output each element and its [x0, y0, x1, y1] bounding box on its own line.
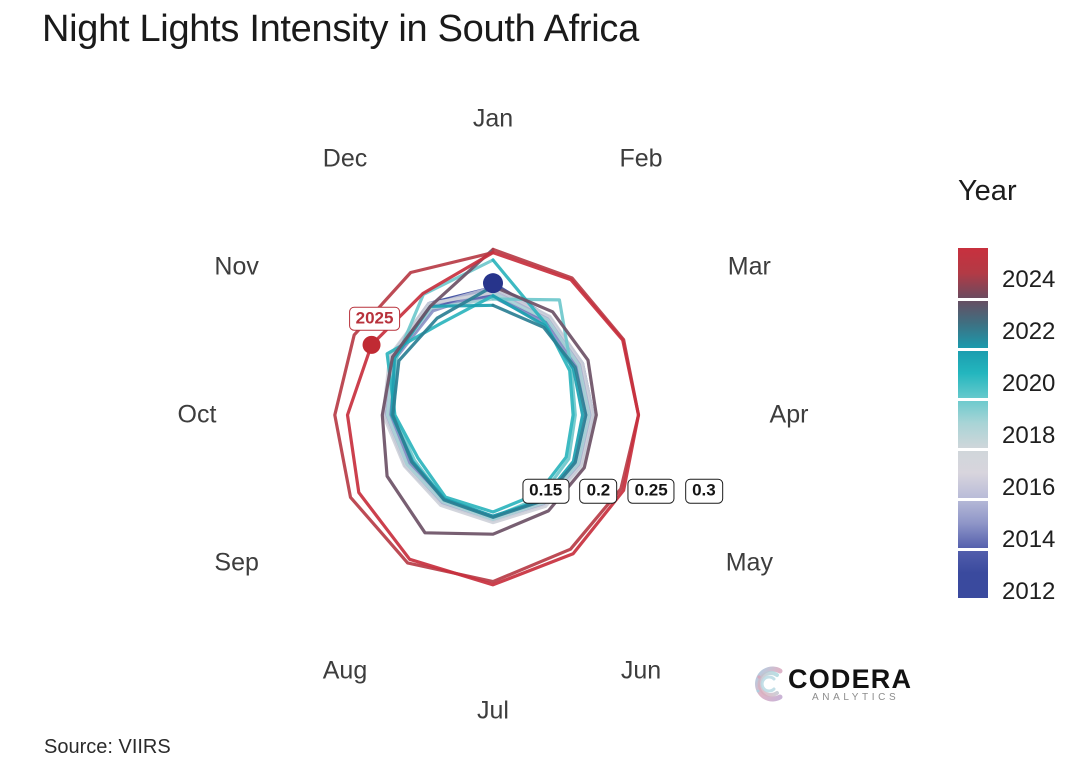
- source-note: Source: VIIRS: [44, 736, 171, 759]
- polar-chart-svg: [150, 75, 840, 745]
- colorbar-segment: [958, 373, 988, 398]
- colorbar-segment: [958, 498, 988, 523]
- year-colorbar-legend: Year 2024202220202018201620142012: [930, 175, 1080, 605]
- legend-tick-2014: 2014: [1002, 526, 1055, 554]
- month-label-dec: Dec: [323, 144, 367, 173]
- month-label-oct: Oct: [178, 401, 217, 430]
- legend-tick-2018: 2018: [1002, 422, 1055, 450]
- month-label-mar: Mar: [728, 253, 771, 282]
- colorbar-segment: [958, 348, 988, 373]
- codera-logo: CODERA ANALYTICS: [750, 660, 905, 710]
- colorbar-divider: [958, 398, 988, 401]
- radial-tick-0.15: 0.15: [522, 479, 569, 504]
- legend-tick-2022: 2022: [1002, 318, 1055, 346]
- colorbar-segment: [958, 323, 988, 348]
- codera-wordmark: CODERA: [788, 664, 912, 695]
- legend-tick-2020: 2020: [1002, 370, 1055, 398]
- radial-tick-0.25: 0.25: [628, 479, 675, 504]
- colorbar-divider: [958, 348, 988, 351]
- codera-tagline: ANALYTICS: [812, 692, 899, 703]
- month-label-jan: Jan: [473, 105, 513, 134]
- colorbar-divider: [958, 298, 988, 301]
- colorbar-segment: [958, 448, 988, 473]
- radial-tick-0.2: 0.2: [580, 479, 618, 504]
- page-title: Night Lights Intensity in South Africa: [42, 8, 639, 51]
- month-label-nov: Nov: [214, 253, 258, 282]
- legend-tick-2016: 2016: [1002, 474, 1055, 502]
- month-label-jul: Jul: [477, 697, 509, 726]
- month-label-sep: Sep: [214, 549, 258, 578]
- series-start-dot-2012: [483, 273, 503, 293]
- colorbar-segment: [958, 473, 988, 498]
- series-lines-group: [335, 249, 639, 584]
- colorbar-segment: [958, 398, 988, 423]
- colorbar-divider: [958, 448, 988, 451]
- colorbar-segment: [958, 273, 988, 298]
- colorbar-segment: [958, 573, 988, 598]
- colorbar-segment: [958, 298, 988, 323]
- month-label-feb: Feb: [619, 144, 662, 173]
- month-label-aug: Aug: [323, 657, 367, 686]
- colorbar-gradient[interactable]: [958, 248, 988, 598]
- colorbar-segment: [958, 248, 988, 273]
- colorbar-divider: [958, 548, 988, 551]
- legend-tick-2012: 2012: [1002, 578, 1055, 606]
- legend-tick-2024: 2024: [1002, 266, 1055, 294]
- colorbar-segment: [958, 423, 988, 448]
- month-label-apr: Apr: [770, 401, 809, 430]
- month-label-may: May: [726, 549, 773, 578]
- series-end-dot-2025: [363, 336, 381, 354]
- legend-title: Year: [958, 175, 1017, 208]
- colorbar-segment: [958, 548, 988, 573]
- colorbar-divider: [958, 498, 988, 501]
- radial-tick-0.3: 0.3: [685, 479, 723, 504]
- polar-chart: [150, 75, 840, 745]
- month-label-jun: Jun: [621, 657, 661, 686]
- colorbar-segment: [958, 523, 988, 548]
- codera-swirl-icon: [750, 664, 790, 704]
- series-end-label-2025: 2025: [349, 307, 401, 332]
